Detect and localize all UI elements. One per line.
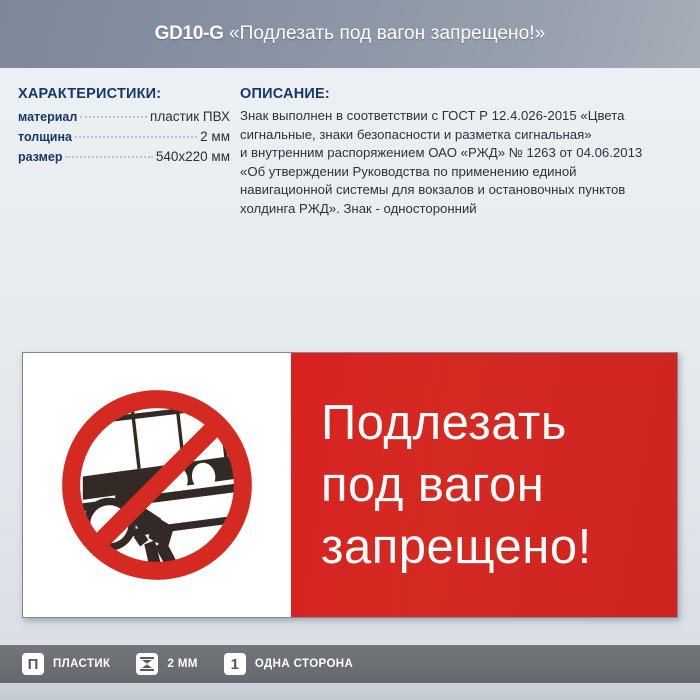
description-line: холдинга РЖД». Знак - односторонний xyxy=(240,200,690,219)
spec-label: материал xyxy=(18,107,77,127)
description-line: Знак выполнен в соответствии с ГОСТ Р 12… xyxy=(240,107,690,126)
description-line: и внутренним распоряжением ОАО «РЖД» № 1… xyxy=(240,144,690,163)
sign-text-line: запрещено! xyxy=(321,516,677,578)
spec-leader-dots xyxy=(75,136,197,138)
thickness-icon-glyph xyxy=(139,656,155,672)
spec-value: пластик ПВХ xyxy=(150,107,230,127)
one-side-icon: 1 xyxy=(224,653,246,675)
product-card: GD10-G «Подлезать под вагон запрещено!» … xyxy=(0,0,700,700)
spec-label: размер xyxy=(18,147,62,167)
footer-item-sides: 1 ОДНА СТОРОНА xyxy=(224,653,353,675)
page-title: GD10-G «Подлезать под вагон запрещено!» xyxy=(155,23,546,45)
footer-item-thickness: 2 ММ xyxy=(136,653,197,675)
no-crawling-under-railcar-pictogram xyxy=(51,379,263,591)
footer-bar: П ПЛАСТИК 2 ММ 1 ОДНА СТОРОНА xyxy=(0,645,700,683)
one-side-icon-glyph: 1 xyxy=(231,657,239,672)
sign-pictogram-area xyxy=(23,353,291,617)
footer-label-sides: ОДНА СТОРОНА xyxy=(255,658,353,670)
description-heading: ОПИСАНИЕ: xyxy=(240,86,690,102)
sign-text-line: под вагон xyxy=(321,454,677,516)
header-bar: GD10-G «Подлезать под вагон запрещено!» xyxy=(0,0,700,68)
footer-bottom-strip xyxy=(0,683,700,700)
sign-text-area: Подлезать под вагон запрещено! xyxy=(291,353,677,617)
description-line: сигнальные, знаки безопасности и разметк… xyxy=(240,126,690,145)
spec-row: толщина 2 мм xyxy=(18,127,230,147)
spec-value: 540х220 мм xyxy=(156,147,230,167)
product-name: «Подлезать под вагон запрещено!» xyxy=(229,23,545,44)
spec-leader-dots xyxy=(80,116,147,118)
description-line: навигационной системы для вокзалов и ост… xyxy=(240,181,690,200)
product-code: GD10-G xyxy=(155,23,224,44)
footer-item-material: П ПЛАСТИК xyxy=(22,653,110,675)
description-line: «Об утверждении Руководства по применени… xyxy=(240,163,690,182)
thickness-icon xyxy=(136,653,158,675)
spec-label: толщина xyxy=(18,127,72,147)
sign-text-line: Подлезать xyxy=(321,392,677,454)
specifications-heading: ХАРАКТЕРИСТИКИ: xyxy=(18,86,230,102)
description-text: Знак выполнен в соответствии с ГОСТ Р 12… xyxy=(240,107,690,219)
specifications-block: ХАРАКТЕРИСТИКИ: материал пластик ПВХ тол… xyxy=(18,86,230,167)
description-block: ОПИСАНИЕ: Знак выполнен в соответствии с… xyxy=(240,86,690,219)
spec-row: размер 540х220 мм xyxy=(18,147,230,167)
spec-leader-dots xyxy=(65,156,152,158)
sign-panel: Подлезать под вагон запрещено! xyxy=(22,352,678,618)
footer-label-material: ПЛАСТИК xyxy=(53,658,110,670)
info-section: ХАРАКТЕРИСТИКИ: материал пластик ПВХ тол… xyxy=(0,68,700,340)
spec-value: 2 мм xyxy=(200,127,230,147)
plastic-icon-glyph: П xyxy=(28,657,39,672)
sign-preview: Подлезать под вагон запрещено! xyxy=(22,352,678,618)
spec-row: материал пластик ПВХ xyxy=(18,107,230,127)
footer-label-thickness: 2 ММ xyxy=(167,658,197,670)
plastic-icon: П xyxy=(22,653,44,675)
